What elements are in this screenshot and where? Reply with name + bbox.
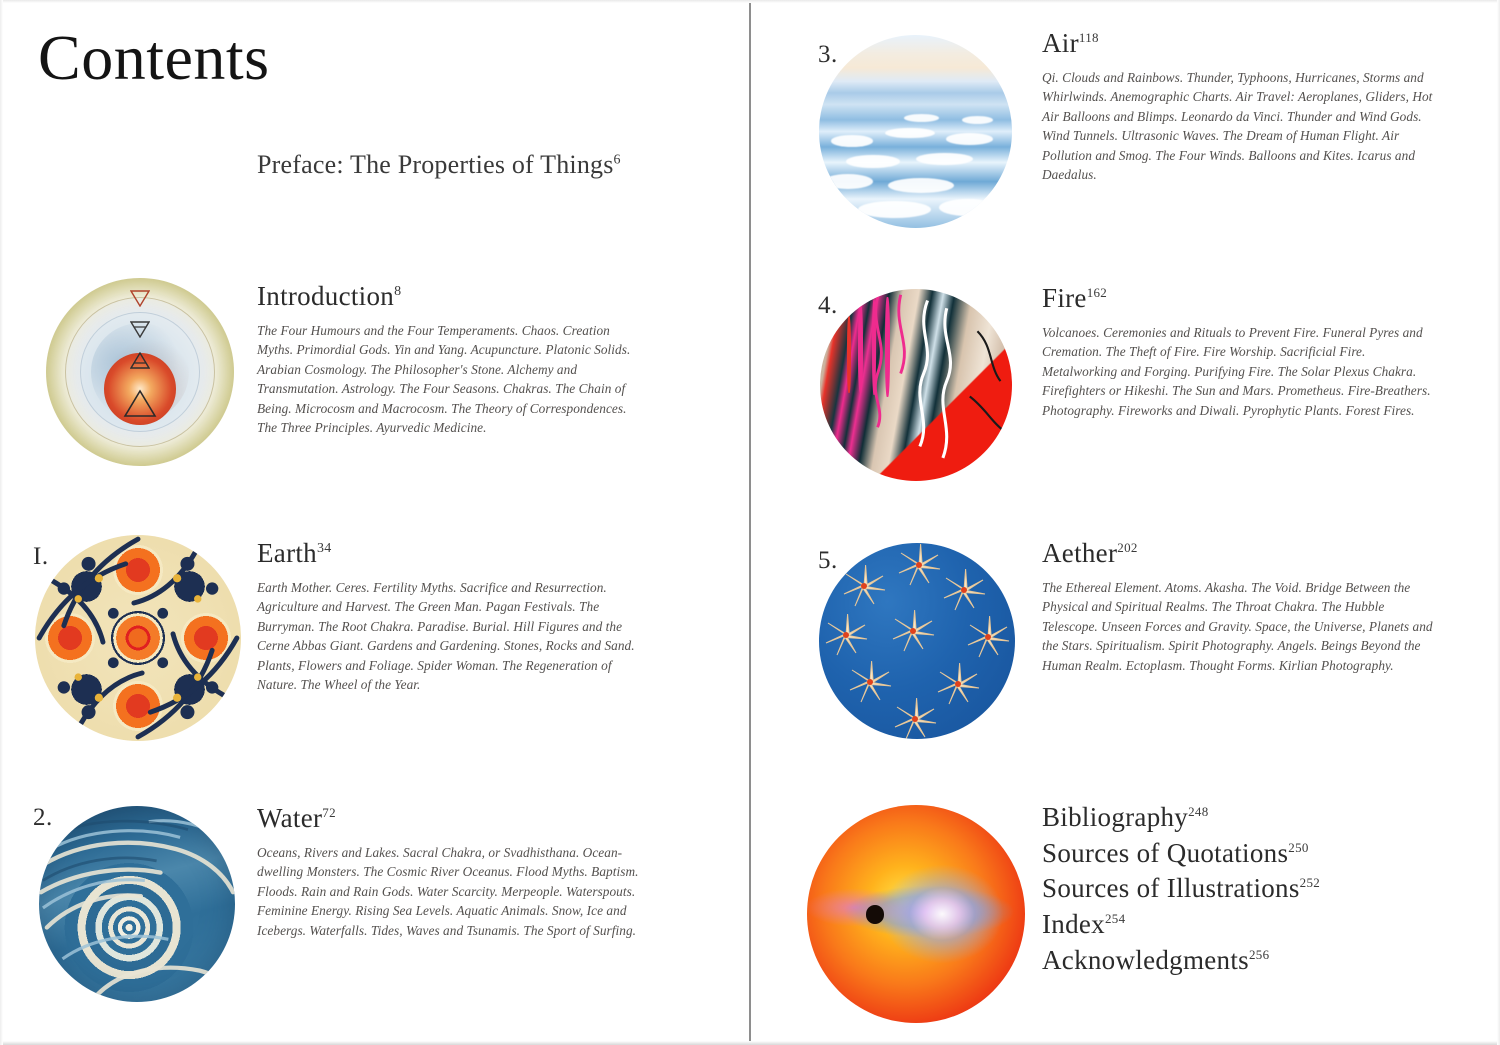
back-matter-page-number: 252 <box>1300 875 1320 890</box>
lava-contour-lines <box>820 289 1012 481</box>
back-matter-page-number: 256 <box>1249 947 1269 962</box>
entry-page-number: 202 <box>1117 540 1137 555</box>
suzani-vine-pattern <box>35 535 241 741</box>
artwork-lava-flow-satellite <box>820 289 1012 481</box>
artwork-suzani-floral-textile <box>35 535 241 741</box>
air-alchemy-glyph <box>130 352 150 369</box>
water-alchemy-glyph <box>130 290 150 307</box>
entry-description: Oceans, Rivers and Lakes. Sacral Chakra,… <box>257 843 649 941</box>
entry-page-number: 162 <box>1087 285 1107 300</box>
back-matter-item-bibliography[interactable]: Bibliography248 <box>1042 800 1320 836</box>
toc-entry-aether[interactable]: 5. <box>750 535 1500 750</box>
book-spread: Contents Preface: The Properties of Thin… <box>0 0 1500 1045</box>
star-glyph <box>890 608 936 654</box>
entry-description: The Four Humours and the Four Temperamen… <box>257 321 647 438</box>
page-edge-bottom <box>0 1041 1500 1045</box>
fire-alchemy-glyph <box>123 389 157 418</box>
entry-page-number: 8 <box>394 284 401 299</box>
entry-page-number: 72 <box>322 805 336 820</box>
star-glyph <box>935 661 981 707</box>
entry-page-number: 118 <box>1079 30 1099 45</box>
toc-entry-introduction[interactable]: Introduction8 The Four Humours and the F… <box>0 278 750 478</box>
preface-page-number: 6 <box>614 152 621 167</box>
back-matter-item-index[interactable]: Index254 <box>1042 907 1320 943</box>
preface-entry[interactable]: Preface: The Properties of Things6 <box>257 150 621 180</box>
toc-entry-fire[interactable]: 4. <box>750 280 1500 495</box>
toc-entry-air[interactable]: 3. Air118 Qi. Clouds and Rainbows. Thund… <box>750 25 1500 240</box>
artwork-alchemical-elements-circle <box>46 278 234 466</box>
entry-description: Qi. Clouds and Rainbows. Thunder, Typhoo… <box>1042 68 1434 185</box>
entry-title: Earth34 <box>257 539 649 569</box>
entry-description: Earth Mother. Ceres. Fertility Myths. Sa… <box>257 578 649 695</box>
star-glyph <box>841 563 887 609</box>
page-gutter-rule <box>749 0 751 1045</box>
entry-number: 5. <box>818 547 838 575</box>
entry-page-number: 34 <box>317 541 332 556</box>
star-glyph <box>847 659 893 705</box>
entry-title: Introduction8 <box>257 282 647 312</box>
back-matter-item-acknowledgments[interactable]: Acknowledgments256 <box>1042 943 1320 979</box>
artwork-ice-floes-sky <box>819 35 1012 228</box>
artwork-blue-field-with-stars <box>819 543 1015 739</box>
entry-title: Fire162 <box>1042 284 1434 314</box>
left-page: Contents Preface: The Properties of Thin… <box>0 0 750 1045</box>
page-title: Contents <box>38 26 270 90</box>
toc-entry-earth[interactable]: I. <box>0 535 750 755</box>
wave-lines <box>39 806 235 1002</box>
back-matter-page-number: 250 <box>1288 840 1308 855</box>
star-glyph <box>965 614 1011 660</box>
star-glyph <box>892 696 938 739</box>
back-matter-item-sources-of-illustrations[interactable]: Sources of Illustrations252 <box>1042 871 1320 907</box>
star-glyph <box>823 612 869 658</box>
entry-title: Water72 <box>257 804 649 834</box>
entry-number: 3. <box>818 41 838 69</box>
nebula-dark-spot <box>866 905 885 924</box>
entry-title: Air118 <box>1042 29 1434 59</box>
page-edge-top <box>0 0 1500 3</box>
star-glyph <box>896 543 942 588</box>
entry-title: Aether202 <box>1042 539 1436 569</box>
artwork-nebula-disc <box>807 805 1025 1023</box>
toc-entry-water[interactable]: 2. <box>0 800 750 1010</box>
artwork-japanese-wave-woodcut <box>39 806 235 1002</box>
back-matter-page-number: 248 <box>1188 804 1208 819</box>
back-matter-item-sources-of-quotations[interactable]: Sources of Quotations250 <box>1042 836 1320 872</box>
back-matter-page-number: 254 <box>1105 911 1125 926</box>
entry-description: Volcanoes. Ceremonies and Rituals to Pre… <box>1042 323 1434 421</box>
entry-description: The Ethereal Element. Atoms. Akasha. The… <box>1042 578 1436 676</box>
star-glyph <box>941 567 987 613</box>
page-edge-left <box>0 0 3 1045</box>
back-matter-list: Bibliography248 Sources of Quotations250… <box>1042 800 1320 978</box>
preface-label: Preface: The Properties of Things <box>257 150 614 179</box>
earth-alchemy-glyph <box>130 321 150 338</box>
